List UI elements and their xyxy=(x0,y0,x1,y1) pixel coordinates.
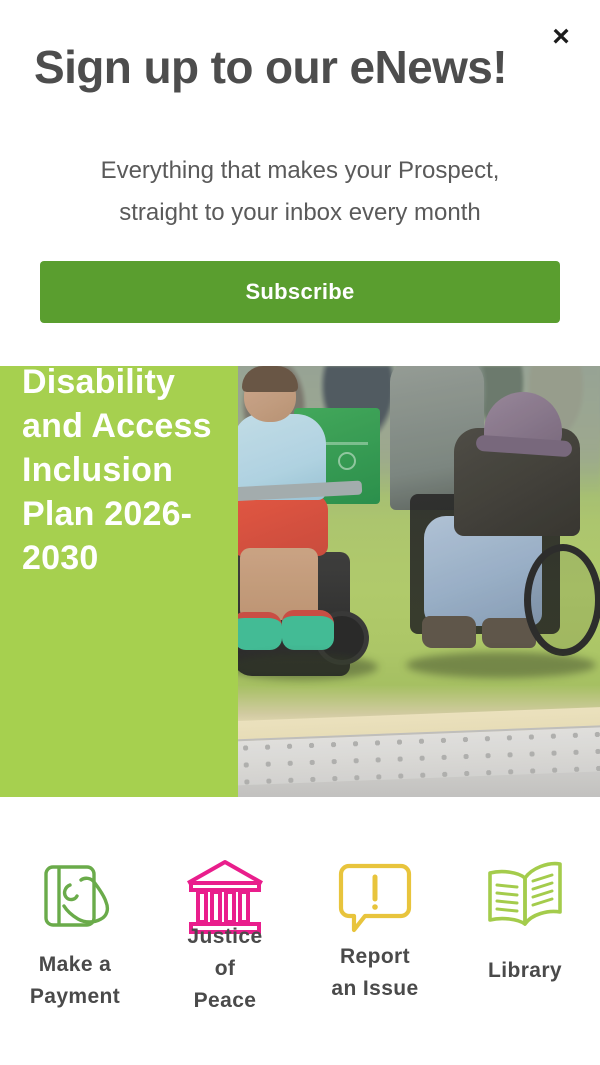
modal-subtitle-line-2: straight to your inbox every month xyxy=(40,192,560,234)
hero-title: Disability and Access Inclusion Plan 202… xyxy=(22,366,234,580)
quick-link-label: Library xyxy=(450,955,600,987)
quick-link-make-a-payment[interactable]: Make a Payment xyxy=(0,845,150,1013)
credit-card-hand-icon xyxy=(0,845,150,949)
open-book-icon xyxy=(450,845,600,949)
quick-link-label-line-2: of xyxy=(176,953,274,985)
quick-link-label-line-2: an Issue xyxy=(310,973,440,1005)
quick-link-library[interactable]: Library xyxy=(450,845,600,987)
quick-link-label: Justice of Peace xyxy=(150,921,300,1017)
hero-image xyxy=(238,366,600,797)
hero-banner: Disability and Access Inclusion Plan 202… xyxy=(0,366,600,797)
quick-link-label-line-1: Library xyxy=(450,955,600,987)
quick-link-label-line-1: Report xyxy=(310,941,440,973)
quick-link-label-line-1: Make a xyxy=(18,949,132,981)
quick-link-justice-of-peace[interactable]: Justice of Peace xyxy=(150,845,300,1017)
enews-signup-modal: × Sign up to our eNews! Everything that … xyxy=(0,0,600,366)
quick-link-label-line-2: Payment xyxy=(18,981,132,1013)
quick-link-label: Report an Issue xyxy=(300,941,450,1005)
quick-link-report-an-issue[interactable]: Report an Issue xyxy=(300,845,450,1005)
modal-title: Sign up to our eNews! xyxy=(0,40,600,94)
quick-link-label-line-1: Justice xyxy=(176,921,274,953)
subscribe-button[interactable]: Subscribe xyxy=(40,261,560,323)
quick-link-label: Make a Payment xyxy=(0,949,150,1013)
modal-subtitle: Everything that makes your Prospect, str… xyxy=(0,150,600,234)
quick-links-row: Make a Payment Justice of Peace xyxy=(0,845,600,1065)
page-root: Disability and Access Inclusion Plan 202… xyxy=(0,0,600,1065)
hero-image-overlay-wash xyxy=(238,366,600,797)
alert-speech-bubble-icon xyxy=(300,845,450,949)
modal-subtitle-line-1: Everything that makes your Prospect, xyxy=(40,150,560,192)
hero-title-panel: Disability and Access Inclusion Plan 202… xyxy=(0,366,238,797)
quick-link-label-line-3: Peace xyxy=(176,985,274,1017)
